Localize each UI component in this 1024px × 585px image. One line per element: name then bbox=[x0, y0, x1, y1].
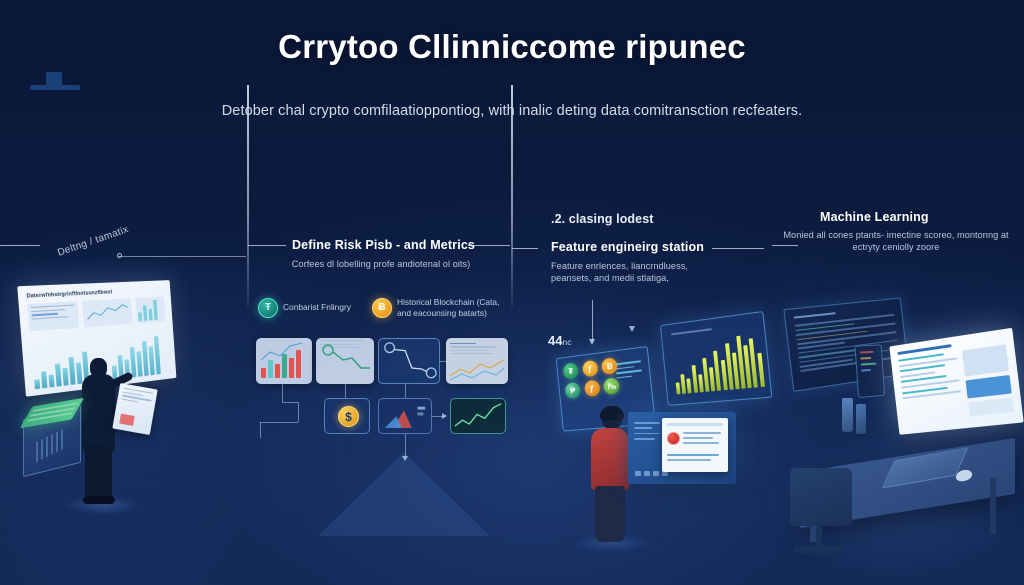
flow-arrow-right bbox=[442, 413, 447, 419]
flow-connector bbox=[298, 402, 299, 422]
dashboard-cards bbox=[962, 344, 1015, 420]
dollar-coin-icon: $ bbox=[338, 406, 359, 427]
analyst-shoes bbox=[83, 496, 115, 504]
token-board-text-lines bbox=[615, 360, 643, 381]
board-chart-grid bbox=[27, 297, 165, 332]
panel-3-subtitle: Feature enrlences, liancrndluess, peanse… bbox=[551, 260, 721, 284]
panel-4-heading: Machine Learning bbox=[820, 210, 929, 224]
status-strip-screen[interactable] bbox=[855, 344, 886, 398]
water-bottle bbox=[842, 398, 853, 432]
dashboard-body bbox=[898, 344, 1014, 427]
token-item[interactable]: Ƀ Historical Blockchain (Cata, and eacou… bbox=[372, 297, 504, 318]
code-editor-screen[interactable] bbox=[783, 298, 909, 392]
dialog-text-line bbox=[683, 432, 721, 434]
flow-connector bbox=[260, 422, 298, 423]
panel-3-marker: 44nc bbox=[548, 333, 571, 348]
report-document-card[interactable] bbox=[446, 338, 508, 384]
chart-board-title-line bbox=[671, 328, 712, 335]
board-line-chart bbox=[82, 298, 133, 327]
marker-value: 44 bbox=[548, 333, 562, 348]
panel-4-subtitle: Monied all cones ptants- imectine scoreo… bbox=[776, 229, 1016, 253]
panel-3-rule-right bbox=[712, 248, 764, 249]
panel-3-kicker: .2. clasing lodest bbox=[551, 212, 654, 226]
monitor-code-lines bbox=[634, 422, 660, 443]
report-highlight bbox=[119, 414, 135, 426]
token-label: Historical Blockchain (Cata, and eacouns… bbox=[397, 297, 504, 318]
office-chair bbox=[790, 468, 852, 526]
panel-3-heading: Feature engineirg station bbox=[551, 240, 704, 254]
dashboard-card bbox=[962, 344, 1009, 376]
coin-icon: ₱ bbox=[565, 382, 581, 399]
dialog-text-line bbox=[667, 454, 719, 456]
token-label: Conbarist Fnlingry bbox=[283, 302, 351, 313]
dialog-text-line bbox=[683, 442, 719, 444]
dashboard-card bbox=[968, 397, 1014, 416]
analyst-legs bbox=[85, 446, 112, 502]
dashboard-card bbox=[965, 375, 1011, 399]
analyst-report-sheet bbox=[112, 383, 157, 435]
flow-connector bbox=[282, 402, 298, 403]
panel-2-rule-left bbox=[248, 245, 286, 246]
panel-3-down-arrow bbox=[592, 300, 593, 340]
flow-arrow-down bbox=[402, 456, 408, 461]
flow-connector bbox=[405, 384, 406, 398]
panel-3-rule-left bbox=[512, 248, 538, 249]
analyst-figure bbox=[78, 358, 122, 498]
token-item[interactable]: Ŧ Conbarist Fnlingry bbox=[258, 297, 362, 318]
coin-icon: ƒ bbox=[582, 360, 599, 378]
board-legend-block bbox=[27, 301, 79, 331]
feature-flow-diagram: $ bbox=[254, 336, 512, 486]
flow-connector bbox=[260, 422, 261, 438]
monitor-base bbox=[30, 85, 80, 90]
flow-connector bbox=[282, 384, 283, 402]
yellow-bar-chart-board[interactable] bbox=[660, 311, 772, 406]
panel-1-lead-line bbox=[118, 256, 246, 257]
developer-hair bbox=[600, 406, 624, 420]
coin-icon: ₮ bbox=[563, 362, 579, 379]
analytics-chart-card[interactable] bbox=[378, 398, 432, 434]
cube-data-lines bbox=[36, 429, 63, 462]
line-chart-card[interactable] bbox=[316, 338, 374, 384]
dialog-text-line bbox=[683, 437, 713, 439]
dialog-titlebar bbox=[667, 423, 723, 426]
board-mini-bars bbox=[135, 297, 166, 324]
dashboard-list bbox=[898, 351, 964, 427]
trend-line-card[interactable] bbox=[378, 338, 440, 384]
marker-unit: nc bbox=[562, 337, 571, 347]
bitcoin-coin-icon: Ƀ bbox=[372, 298, 392, 318]
panel-2-subtitle: Corfees dl lobelling profe andiotenal ol… bbox=[268, 258, 494, 270]
bar-chart-card[interactable] bbox=[256, 338, 312, 384]
green-trend-card[interactable] bbox=[450, 398, 506, 434]
monitor-stand bbox=[46, 72, 62, 86]
flow-connector bbox=[345, 384, 346, 398]
infographic-canvas: Crrytoo Cllinniccome ripunec Detober cha… bbox=[0, 0, 1024, 585]
dialog-text-line bbox=[667, 459, 711, 461]
developer-monitor[interactable] bbox=[628, 412, 736, 484]
coin-icon: ƒ bbox=[584, 380, 601, 397]
chair-base bbox=[794, 546, 846, 553]
flow-connector bbox=[405, 434, 406, 456]
token-grid: ₮ ƒ Ƀ ₱ ƒ ₧ bbox=[563, 357, 621, 399]
code-editor-title-line bbox=[794, 312, 836, 319]
panel-1-rule bbox=[0, 245, 40, 246]
panel-2-token-row: Ŧ Conbarist Fnlingry Ƀ Historical Blockc… bbox=[258, 297, 508, 318]
flow-connector bbox=[440, 361, 448, 362]
page-title: Crrytoo Cllinniccome ripunec bbox=[0, 28, 1024, 66]
developer-legs bbox=[595, 486, 625, 542]
dashboard-monitor[interactable] bbox=[889, 328, 1023, 435]
dollar-coin-card[interactable]: $ bbox=[324, 398, 370, 434]
alert-icon bbox=[667, 432, 680, 445]
blockchain-cube-icon bbox=[23, 412, 81, 470]
panel-2-heading: Define Risk Pisb - and Metrics bbox=[292, 238, 475, 252]
teal-coin-icon: Ŧ bbox=[258, 298, 278, 318]
panel-3-down-arrow-small bbox=[629, 326, 635, 332]
chart-board-bars bbox=[672, 331, 765, 394]
alert-dialog[interactable] bbox=[662, 418, 728, 472]
water-bottle-secondary bbox=[856, 404, 866, 434]
desk-leg bbox=[990, 478, 996, 535]
developer-body bbox=[591, 428, 629, 490]
panel-divider-2 bbox=[511, 85, 513, 307]
